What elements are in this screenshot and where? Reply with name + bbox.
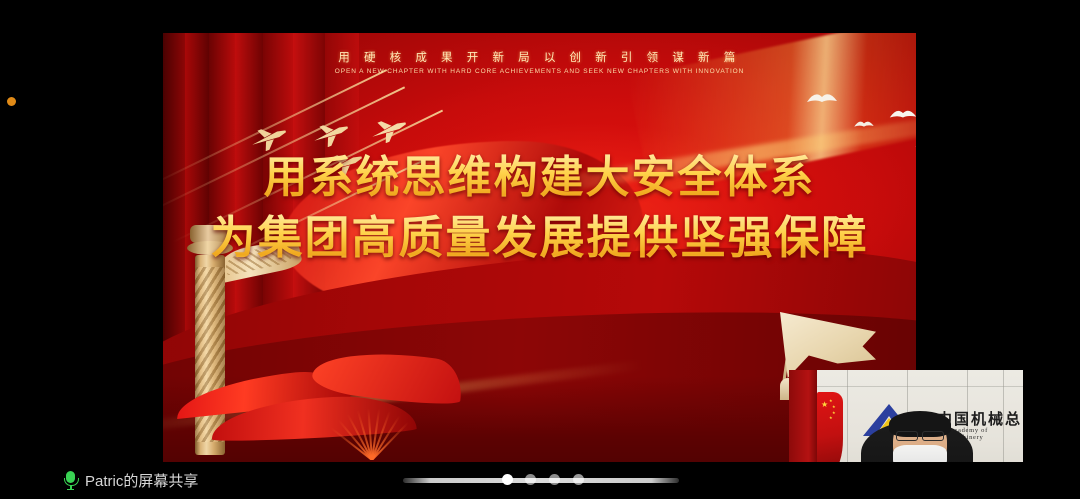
slide-title: 用系统思维构建大安全体系 为集团高质量发展提供坚强保障 bbox=[163, 148, 916, 268]
slide-header: 用 硬 核 成 果 开 新 局 以 创 新 引 领 谋 新 篇 OPEN A N… bbox=[163, 49, 916, 75]
recording-dot bbox=[7, 97, 16, 106]
dove-icon bbox=[853, 117, 875, 131]
screen-share-viewport: 用 硬 核 成 果 开 新 局 以 创 新 引 领 谋 新 篇 OPEN A N… bbox=[0, 0, 1080, 499]
firework-fan bbox=[313, 400, 433, 460]
screen-share-text: Patric的屏幕共享 bbox=[85, 470, 198, 491]
pager-dot[interactable] bbox=[573, 474, 584, 485]
slide-title-line-1: 用系统思维构建大安全体系 bbox=[163, 148, 916, 208]
pager-dot[interactable] bbox=[525, 474, 536, 485]
bottom-toolbar: Patric的屏幕共享 bbox=[0, 462, 1080, 499]
slide-title-line-2: 为集团高质量发展提供坚强保障 bbox=[163, 208, 916, 268]
pager-dot-active[interactable] bbox=[502, 474, 513, 485]
slide-header-en: OPEN A NEW CHAPTER WITH HARD CORE ACHIEV… bbox=[163, 68, 916, 75]
slide-header-cn: 用 硬 核 成 果 开 新 局 以 创 新 引 领 谋 新 篇 bbox=[163, 49, 916, 65]
dove-icon bbox=[805, 88, 839, 108]
pager-track[interactable] bbox=[403, 478, 679, 483]
screen-share-label: Patric的屏幕共享 bbox=[64, 470, 198, 491]
pager-dot[interactable] bbox=[549, 474, 560, 485]
china-flag: ★ ★ ★ ★ ★ bbox=[817, 392, 843, 470]
dove-icon bbox=[888, 105, 916, 123]
plane-icon bbox=[311, 121, 351, 147]
plane-icon bbox=[369, 117, 409, 143]
page-scroll-indicator[interactable] bbox=[403, 470, 679, 489]
microphone-icon bbox=[64, 471, 77, 490]
